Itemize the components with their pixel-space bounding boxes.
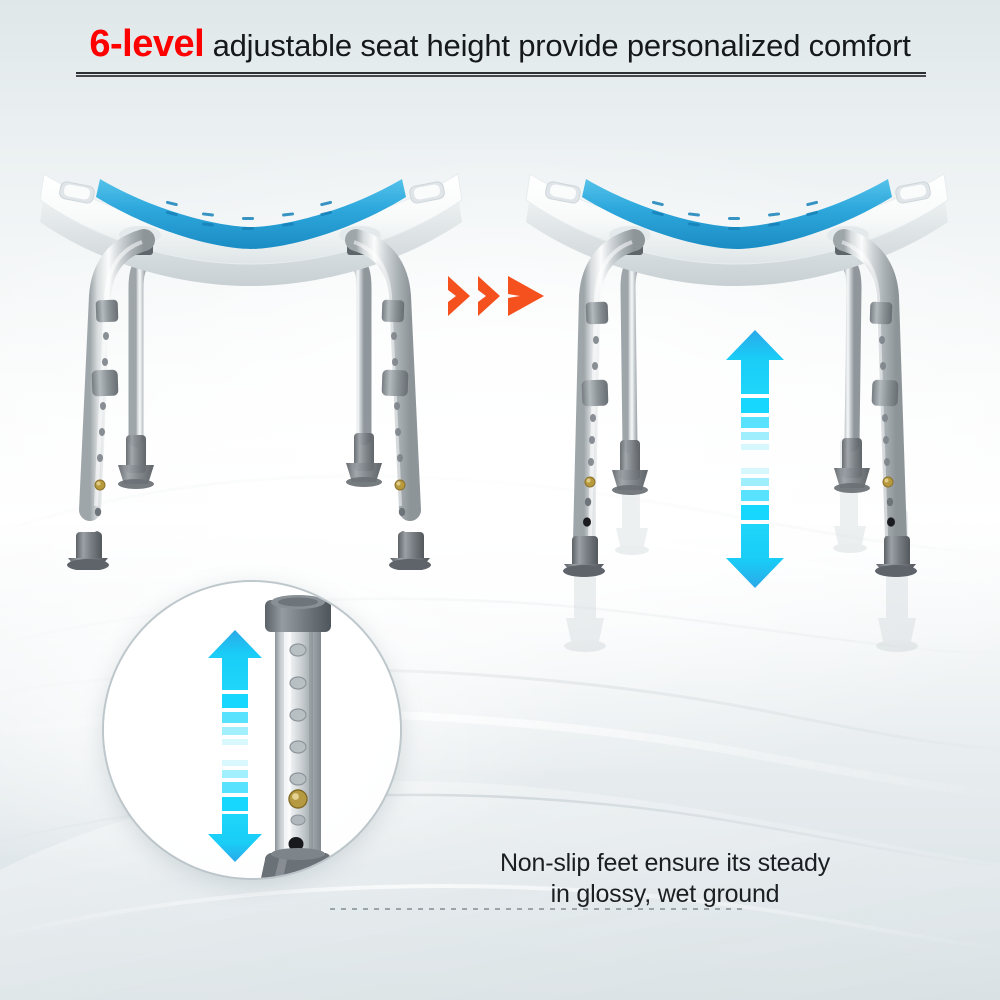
headline-rest: adjustable seat height provide personali… xyxy=(204,28,910,63)
page-title: 6-level adjustable seat height provide p… xyxy=(0,24,1000,66)
caption-line-2: in glossy, wet ground xyxy=(455,879,875,910)
stool-low xyxy=(38,140,468,570)
caption-line-1: Non-slip feet ensure its steady xyxy=(455,848,875,879)
stool-low-back-legs xyxy=(118,258,382,489)
non-slip-foot xyxy=(258,848,338,878)
lens-contents xyxy=(104,582,400,878)
feature-caption: Non-slip feet ensure its steady in gloss… xyxy=(455,848,875,910)
lens-height-arrow xyxy=(208,630,262,862)
double-arrow-vertical-icon xyxy=(712,328,798,590)
product-feature-image: 6-level adjustable seat height provide p… xyxy=(0,0,1000,1000)
magnified-leg-detail-circle xyxy=(104,582,400,878)
headline-highlight: 6-level xyxy=(89,23,204,65)
stool-low-front-legs xyxy=(67,239,431,570)
height-adjust-arrow xyxy=(712,328,798,590)
lens-leg-tube xyxy=(258,595,338,878)
stool-low-graphic xyxy=(38,140,468,570)
spring-pin xyxy=(289,790,307,808)
header-divider xyxy=(76,72,926,77)
